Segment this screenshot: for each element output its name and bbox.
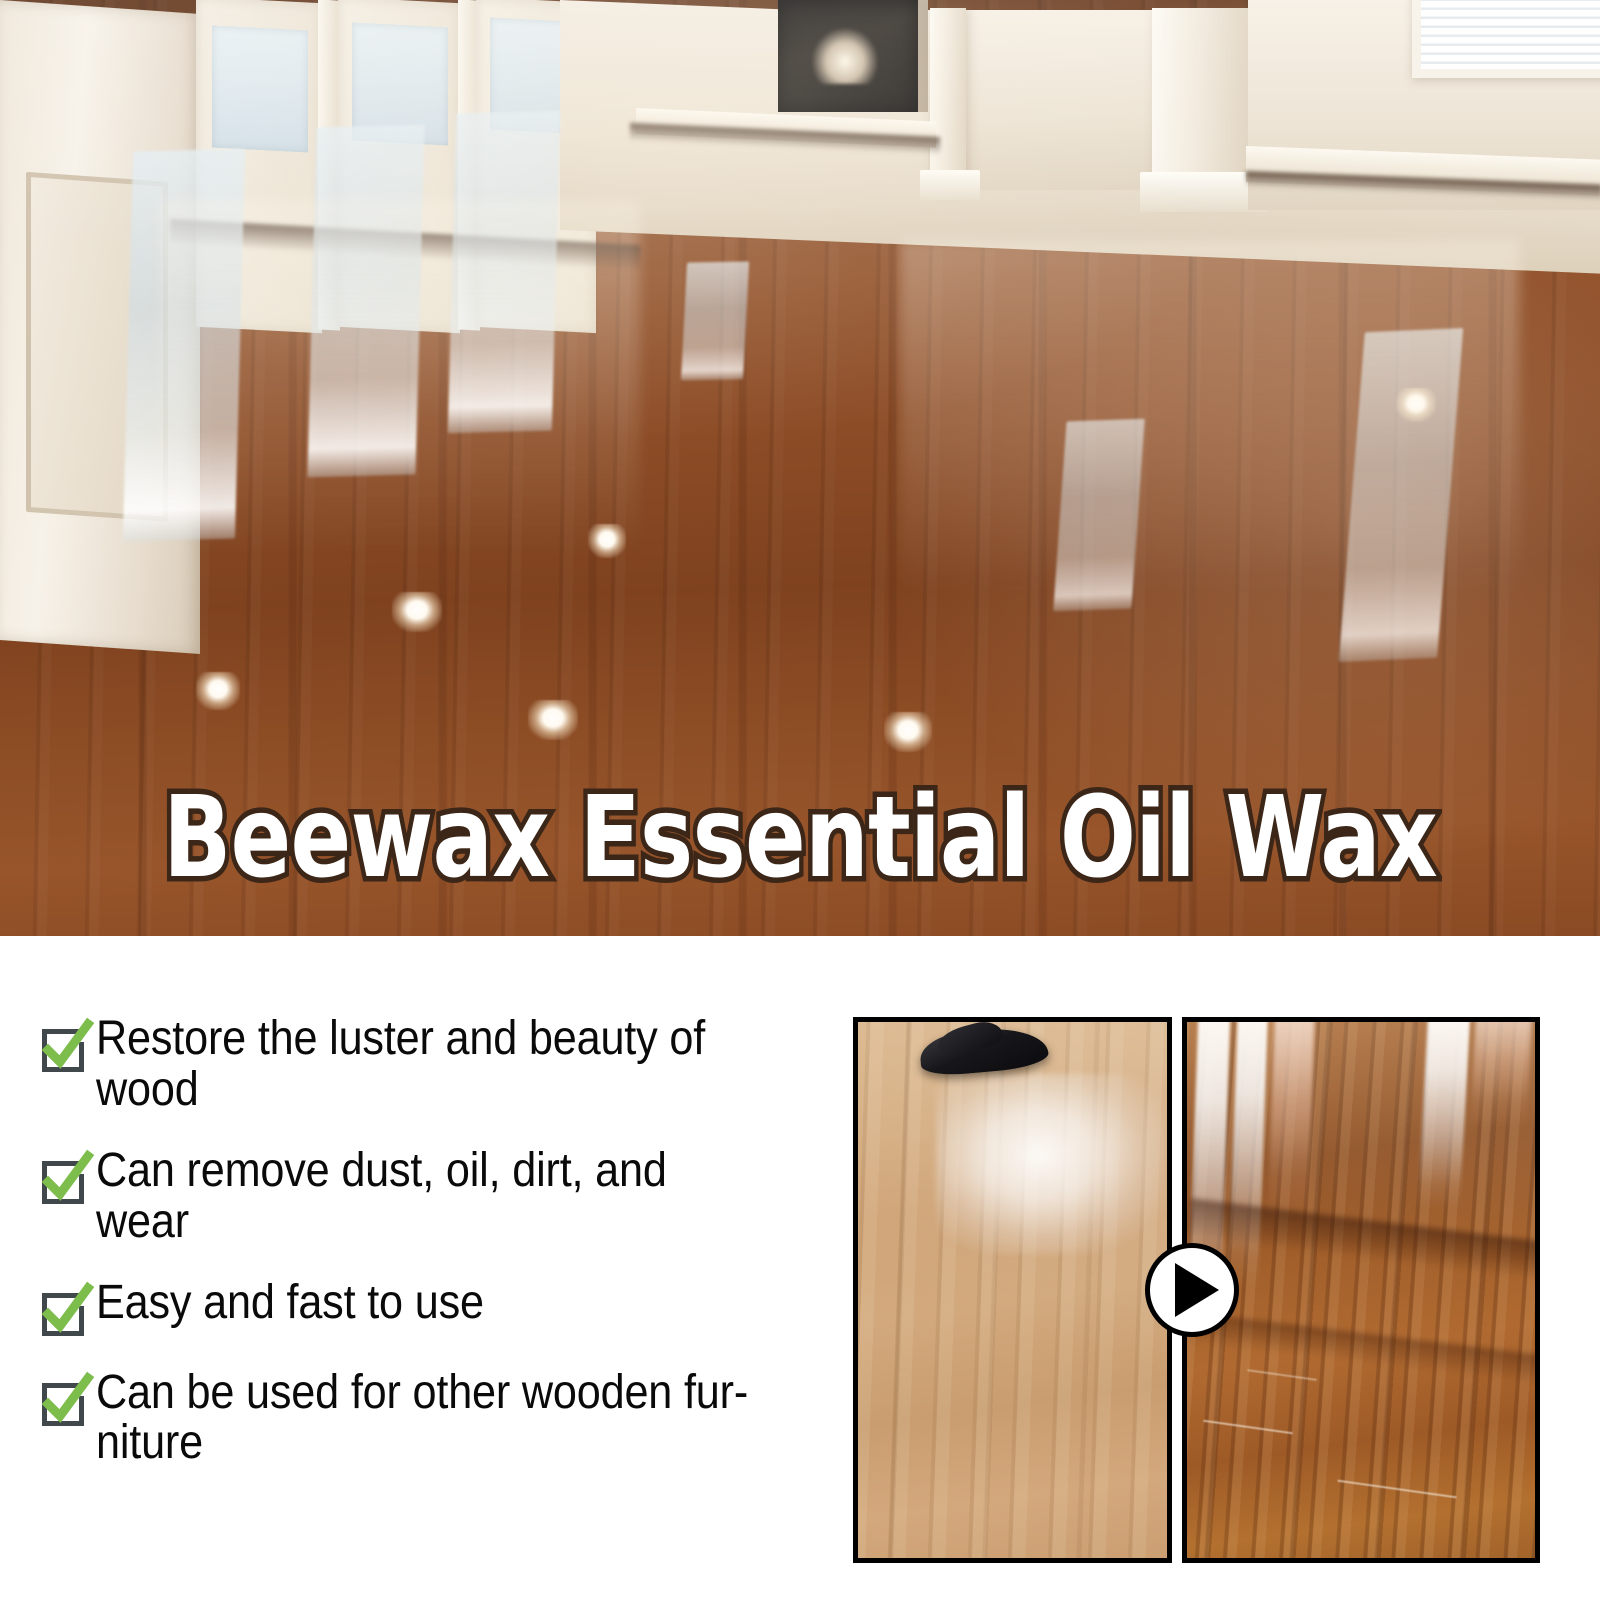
feature-label: Can be used for other wooden fur-niture xyxy=(96,1368,755,1470)
feature-label: Restore the luster and beauty of wood xyxy=(96,1014,755,1116)
before-after-comparison xyxy=(853,1017,1540,1563)
checked-checkbox-icon xyxy=(38,1286,90,1338)
before-photo xyxy=(853,1017,1172,1563)
play-button[interactable] xyxy=(1145,1243,1239,1337)
feature-list: Restore the luster and beauty of wood Ca… xyxy=(38,1014,828,1469)
after-gloss-overlay xyxy=(1187,1022,1535,1558)
feature-item: Restore the luster and beauty of wood xyxy=(38,1014,828,1116)
feature-item: Can remove dust, oil, dirt, and wear xyxy=(38,1146,828,1248)
feature-item: Can be used for other wooden fur-niture xyxy=(38,1368,828,1470)
play-triangle-icon xyxy=(1175,1263,1219,1317)
features-section: Restore the luster and beauty of wood Ca… xyxy=(0,936,1600,1600)
feature-label: Can remove dust, oil, dirt, and wear xyxy=(96,1146,755,1248)
checked-checkbox-icon xyxy=(38,1022,90,1074)
hero-banner: Beewax Essential Oil Wax xyxy=(0,0,1600,936)
page-title: Beewax Essential Oil Wax xyxy=(160,782,1440,894)
checked-checkbox-icon xyxy=(38,1154,90,1206)
checked-checkbox-icon xyxy=(38,1376,90,1428)
before-haze xyxy=(858,1022,1167,1558)
feature-item: Easy and fast to use xyxy=(38,1278,828,1338)
feature-label: Easy and fast to use xyxy=(96,1278,755,1329)
